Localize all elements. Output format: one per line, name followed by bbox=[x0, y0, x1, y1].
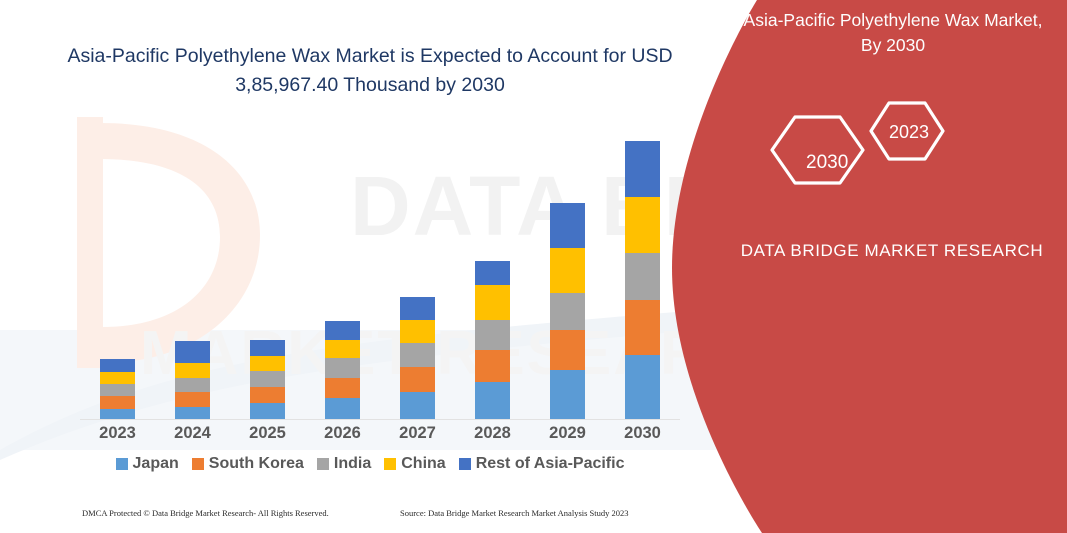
x-axis-label-2026: 2026 bbox=[313, 424, 373, 443]
footer-source: Source: Data Bridge Market Research Mark… bbox=[400, 508, 629, 518]
legend-item-south-korea[interactable]: South Korea bbox=[192, 455, 304, 473]
bar-segment-south-korea bbox=[175, 392, 210, 407]
bar-segment-china bbox=[250, 356, 285, 371]
bar-segment-japan bbox=[325, 398, 360, 420]
x-axis-label-2030: 2030 bbox=[613, 424, 673, 443]
bar-segment-china bbox=[100, 372, 135, 384]
bar-segment-china bbox=[175, 363, 210, 378]
bar-segment-rest-of-asia-pacific bbox=[175, 341, 210, 363]
panel-title: Asia-Pacific Polyethylene Wax Market, By… bbox=[737, 8, 1049, 59]
stacked-bar bbox=[475, 261, 510, 420]
stacked-bar bbox=[250, 340, 285, 420]
bar-segment-south-korea bbox=[625, 300, 660, 355]
bar-column-2025 bbox=[238, 115, 298, 420]
footer-copyright: DMCA Protected © Data Bridge Market Rese… bbox=[82, 508, 329, 518]
legend-item-china[interactable]: China bbox=[384, 455, 445, 473]
bar-segment-japan bbox=[625, 355, 660, 420]
bar-column-2026 bbox=[313, 115, 373, 420]
bar-segment-india bbox=[400, 343, 435, 367]
x-axis-label-2023: 2023 bbox=[88, 424, 148, 443]
bar-segment-india bbox=[625, 253, 660, 300]
x-axis-label-2027: 2027 bbox=[388, 424, 448, 443]
brand-panel-content: Asia-Pacific Polyethylene Wax Market, By… bbox=[737, 0, 1067, 533]
bar-column-2024 bbox=[163, 115, 223, 420]
legend-label: South Korea bbox=[209, 455, 304, 473]
bar-segment-india bbox=[550, 293, 585, 330]
bar-segment-india bbox=[475, 320, 510, 350]
stacked-bar bbox=[175, 341, 210, 420]
x-axis-label-2024: 2024 bbox=[163, 424, 223, 443]
legend-item-india[interactable]: India bbox=[317, 455, 371, 473]
legend-item-japan[interactable]: Japan bbox=[116, 455, 179, 473]
bar-segment-india bbox=[175, 378, 210, 392]
bar-column-2029 bbox=[538, 115, 598, 420]
legend-label: India bbox=[334, 455, 371, 473]
bar-segment-south-korea bbox=[550, 330, 585, 370]
stacked-bar bbox=[100, 359, 135, 420]
bar-segment-india bbox=[325, 358, 360, 378]
chart-x-axis-labels: 20232024202520262027202820292030 bbox=[80, 424, 680, 443]
bar-segment-china bbox=[625, 197, 660, 253]
hexagon-2030-label: 2030 bbox=[806, 152, 848, 174]
bar-segment-rest-of-asia-pacific bbox=[625, 141, 660, 197]
bar-segment-rest-of-asia-pacific bbox=[325, 321, 360, 340]
hexagon-group: 2030 2023 bbox=[757, 95, 1047, 205]
bar-segment-south-korea bbox=[475, 350, 510, 382]
bar-segment-south-korea bbox=[250, 387, 285, 403]
legend-label: Japan bbox=[133, 455, 179, 473]
bar-segment-japan bbox=[475, 382, 510, 420]
bar-segment-china bbox=[325, 340, 360, 358]
chart-plot-area bbox=[80, 115, 680, 420]
brand-name: DATA BRIDGE MARKET RESEARCH bbox=[737, 238, 1047, 264]
x-axis-label-2025: 2025 bbox=[238, 424, 298, 443]
bar-segment-rest-of-asia-pacific bbox=[475, 261, 510, 285]
legend-swatch-icon bbox=[459, 458, 471, 470]
bar-segment-rest-of-asia-pacific bbox=[100, 359, 135, 372]
legend-swatch-icon bbox=[317, 458, 329, 470]
x-axis-label-2028: 2028 bbox=[463, 424, 523, 443]
bar-column-2027 bbox=[388, 115, 448, 420]
bar-segment-india bbox=[250, 371, 285, 387]
bar-segment-india bbox=[100, 384, 135, 396]
stacked-bar bbox=[325, 321, 360, 420]
bar-segment-south-korea bbox=[325, 378, 360, 398]
bar-segment-japan bbox=[550, 370, 585, 420]
legend-label: China bbox=[401, 455, 445, 473]
chart-baseline bbox=[80, 419, 680, 420]
bar-segment-china bbox=[475, 285, 510, 320]
bar-segment-rest-of-asia-pacific bbox=[250, 340, 285, 356]
bar-segment-china bbox=[550, 248, 585, 293]
bar-segment-south-korea bbox=[400, 367, 435, 392]
page-title: Asia-Pacific Polyethylene Wax Market is … bbox=[60, 42, 680, 101]
hexagon-2023-label: 2023 bbox=[889, 122, 929, 143]
infographic-root: DATA BRIDGE MARKET RESEARCH Asia-Pacific… bbox=[0, 0, 1067, 533]
bar-segment-japan bbox=[250, 403, 285, 420]
bar-segment-china bbox=[400, 320, 435, 343]
stacked-bar bbox=[400, 297, 435, 420]
legend-swatch-icon bbox=[192, 458, 204, 470]
bar-column-2030 bbox=[613, 115, 673, 420]
chart-legend: JapanSouth KoreaIndiaChinaRest of Asia-P… bbox=[60, 455, 680, 473]
legend-label: Rest of Asia-Pacific bbox=[476, 455, 625, 473]
legend-swatch-icon bbox=[384, 458, 396, 470]
bar-column-2028 bbox=[463, 115, 523, 420]
bar-segment-japan bbox=[400, 392, 435, 420]
stacked-bar bbox=[625, 141, 660, 420]
legend-item-rest-of-asia-pacific[interactable]: Rest of Asia-Pacific bbox=[459, 455, 625, 473]
legend-swatch-icon bbox=[116, 458, 128, 470]
bar-segment-rest-of-asia-pacific bbox=[550, 203, 585, 248]
bar-segment-south-korea bbox=[100, 396, 135, 409]
bar-segment-rest-of-asia-pacific bbox=[400, 297, 435, 320]
stacked-bar bbox=[550, 203, 585, 420]
stacked-bar-chart bbox=[80, 110, 680, 420]
bar-column-2023 bbox=[88, 115, 148, 420]
x-axis-label-2029: 2029 bbox=[538, 424, 598, 443]
